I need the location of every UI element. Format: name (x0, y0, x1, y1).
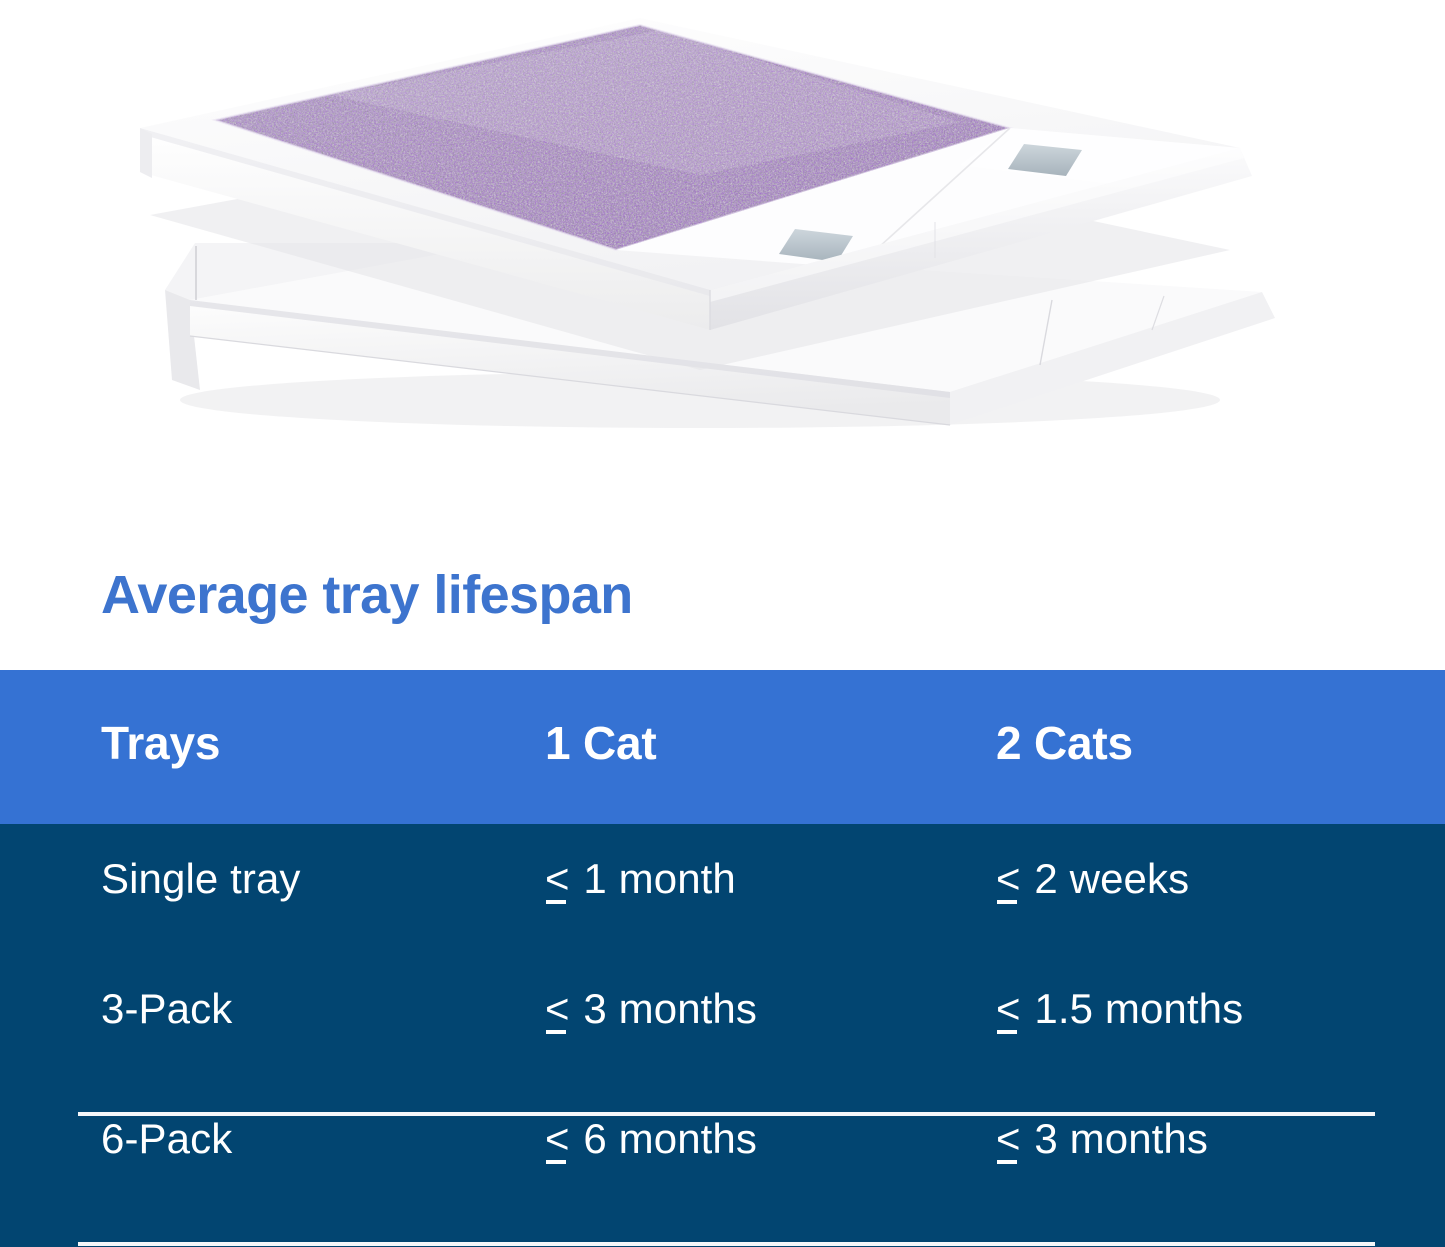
product-photo (0, 0, 1445, 560)
lifespan-table: Trays 1 Cat 2 Cats Single tray < 1 month… (0, 670, 1445, 1247)
table-row: 3-Pack < 3 months < 1.5 months (0, 954, 1445, 1084)
less-than-or-equal-icon: < (996, 1115, 1023, 1163)
less-than-or-equal-icon: < (996, 855, 1023, 903)
cell-one-cat: < 3 months (545, 985, 757, 1033)
cell-one-cat-value: 1 month (583, 855, 735, 902)
product-photo-stage (0, 0, 1445, 470)
cell-tray-name: 3-Pack (101, 985, 232, 1033)
page-title: Average tray lifespan (101, 564, 633, 626)
less-than-or-equal-icon: < (545, 1115, 572, 1163)
table-body: Single tray < 1 month < 2 weeks (0, 824, 1445, 1247)
title-band: Average tray lifespan (0, 560, 1445, 670)
cell-two-cats-value: 3 months (1034, 1115, 1208, 1162)
less-than-or-equal-icon: < (545, 985, 572, 1033)
column-header-one-cat: 1 Cat (545, 716, 657, 770)
litter-tray-illustration (0, 0, 1445, 470)
less-than-or-equal-icon: < (996, 985, 1023, 1033)
cell-two-cats-value: 2 weeks (1034, 855, 1189, 902)
column-header-two-cats: 2 Cats (996, 716, 1133, 770)
cell-two-cats-value: 1.5 months (1034, 985, 1243, 1032)
less-than-or-equal-icon: < (545, 855, 572, 903)
table-header-row: Trays 1 Cat 2 Cats (0, 670, 1445, 824)
header-row-cells: Trays 1 Cat 2 Cats (0, 670, 1445, 824)
table-row: Single tray < 1 month < 2 weeks (0, 824, 1445, 954)
infographic-page: Average tray lifespan Trays 1 Cat 2 Cats… (0, 0, 1445, 1247)
cell-one-cat-value: 3 months (583, 985, 757, 1032)
row-divider (78, 1242, 1375, 1246)
cell-two-cats: < 2 weeks (996, 855, 1189, 903)
cell-tray-name: 6-Pack (101, 1115, 232, 1163)
column-header-trays: Trays (101, 716, 220, 770)
cell-one-cat: < 1 month (545, 855, 736, 903)
cell-one-cat-value: 6 months (583, 1115, 757, 1162)
table-row: 6-Pack < 6 months < 3 months (0, 1084, 1445, 1214)
cell-two-cats: < 3 months (996, 1115, 1208, 1163)
cell-tray-name: Single tray (101, 855, 301, 903)
cell-one-cat: < 6 months (545, 1115, 757, 1163)
cell-two-cats: < 1.5 months (996, 985, 1243, 1033)
